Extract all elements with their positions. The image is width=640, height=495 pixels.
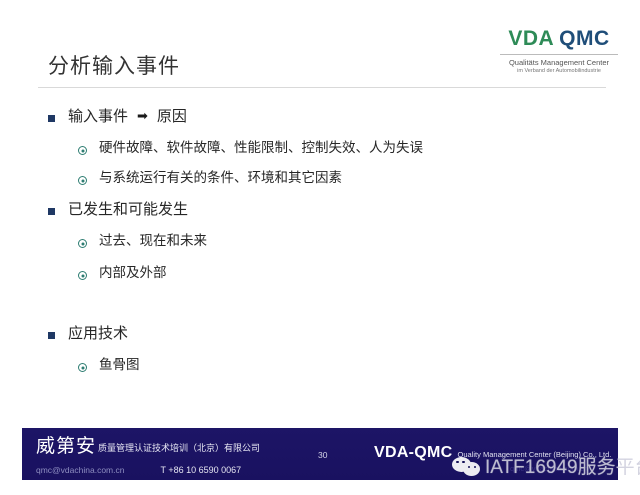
page-number: 30	[318, 450, 327, 460]
bullet-level2-item: 过去、现在和未来	[78, 233, 207, 250]
bullet-level1-label: 应用技术	[68, 325, 128, 344]
bullet-level1-label: 已发生和可能发生	[68, 201, 188, 220]
footer-email: qmc@vdachina.com.cn	[36, 465, 124, 475]
square-bullet-icon	[48, 332, 55, 339]
bullet-text-before-arrow: 输入事件	[68, 108, 128, 125]
logo-subtitle-secondary: im Verband der Automobilindustrie	[500, 69, 618, 75]
circle-dot-bullet-icon	[78, 176, 87, 185]
bullet-level2-label: 硬件故障、软件故障、性能限制、控制失效、人为失误	[99, 140, 423, 157]
bullet-level1-item: 应用技术	[48, 325, 128, 344]
presentation-slide: 分析输入事件 VDAQMC Qualitäts Management Cente…	[0, 0, 640, 495]
logo-divider	[500, 54, 618, 55]
footer-company-name: 威第安	[36, 436, 96, 457]
square-bullet-icon	[48, 208, 55, 215]
bullet-level2-label: 鱼骨图	[99, 357, 140, 374]
circle-dot-bullet-icon	[78, 271, 87, 280]
bullet-level1-item: 输入事件➡原因	[48, 108, 187, 127]
right-arrow-icon: ➡	[137, 108, 148, 124]
bullet-text-after-arrow: 原因	[157, 108, 187, 125]
bullet-level2-item: 与系统运行有关的条件、环境和其它因素	[78, 170, 342, 187]
page-title: 分析输入事件	[48, 50, 180, 80]
bullet-level2-label: 内部及外部	[99, 265, 167, 282]
logo-subtitle-primary: Qualitäts Management Center	[500, 59, 618, 67]
square-bullet-icon	[48, 115, 55, 122]
logo-vda-text: VDA	[508, 27, 554, 50]
footer-contact-block: qmc@vdachina.com.cnT +86 10 6590 0067	[36, 461, 241, 477]
footer-company-block: 威第安质量管理认证技术培训（北京）有限公司	[36, 437, 260, 456]
slide-header: 分析输入事件 VDAQMC Qualitäts Management Cente…	[0, 0, 640, 90]
footer-brand-subtitle: Quality Management Center (Beijing) Co.,…	[458, 450, 612, 459]
circle-dot-bullet-icon	[78, 146, 87, 155]
circle-dot-bullet-icon	[78, 363, 87, 372]
circle-dot-bullet-icon	[78, 239, 87, 248]
footer-brand-block: VDA-QMCQuality Management Center (Beijin…	[374, 445, 611, 461]
title-divider	[38, 87, 606, 88]
footer-email-secondary: qmc@vdachina.com.cn	[510, 464, 588, 473]
bullet-level2-item: 鱼骨图	[78, 357, 140, 374]
bullet-level2-item: 内部及外部	[78, 265, 167, 282]
footer-band: 威第安质量管理认证技术培训（北京）有限公司 qmc@vdachina.com.c…	[22, 428, 618, 480]
footer-brand-name: VDA-QMC	[374, 444, 453, 461]
logo-qmc-text: QMC	[559, 27, 610, 50]
footer-phone: T +86 10 6590 0067	[160, 465, 241, 475]
vda-qmc-logo: VDAQMC Qualitäts Management Center im Ve…	[500, 28, 618, 74]
bullet-level1-item: 已发生和可能发生	[48, 201, 188, 220]
bullet-level2-label: 过去、现在和未来	[99, 233, 207, 250]
logo-wordmark: VDAQMC	[500, 28, 618, 49]
slide-footer: 威第安质量管理认证技术培训（北京）有限公司 qmc@vdachina.com.c…	[0, 417, 640, 495]
footer-company-description: 质量管理认证技术培训（北京）有限公司	[98, 443, 260, 453]
bullet-level2-label: 与系统运行有关的条件、环境和其它因素	[99, 170, 342, 187]
bullet-level2-item: 硬件故障、软件故障、性能限制、控制失效、人为失误	[78, 140, 423, 157]
bullet-level1-label: 输入事件➡原因	[68, 108, 187, 127]
